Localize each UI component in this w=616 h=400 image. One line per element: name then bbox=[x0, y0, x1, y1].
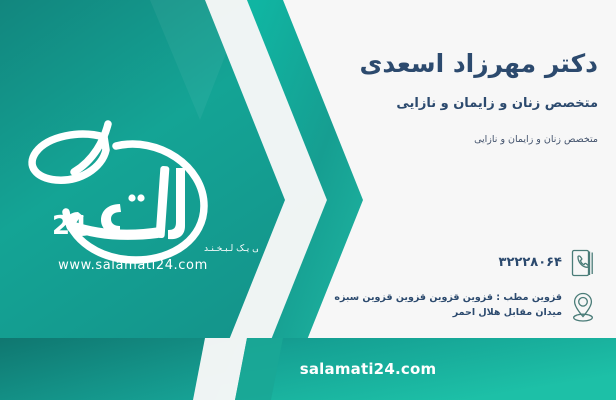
address-text: قزوین مطب : قزوین قزوین قزوین قزوین سبزه… bbox=[308, 290, 562, 320]
apple-leaf-icon: 24 بـراحتی یـک لـبـخـنـد www.salamati24.… bbox=[8, 108, 258, 273]
map-pin-icon bbox=[568, 290, 598, 324]
phone-number: ۳۲۲۲۸۰۶۴ bbox=[308, 248, 562, 273]
salamati24-logo: 24 بـراحتی یـک لـبـخـنـد www.salamati24.… bbox=[8, 108, 258, 273]
page-title: دکتر مهرزاد اسعدی bbox=[308, 48, 598, 79]
footer-bar: salamati24.com bbox=[0, 338, 616, 400]
phone-row[interactable]: ۳۲۲۲۸۰۶۴ bbox=[308, 248, 598, 282]
address-row[interactable]: قزوین مطب : قزوین قزوین قزوین قزوین سبزه… bbox=[308, 290, 598, 324]
svg-text:24: 24 bbox=[52, 211, 86, 241]
footer-website[interactable]: salamati24.com bbox=[0, 338, 616, 400]
specialty-primary: متخصص زنان و زایمان و نازایی bbox=[308, 95, 598, 113]
card-details: دکتر مهرزاد اسعدی متخصص زنان و زایمان و … bbox=[300, 0, 616, 338]
logo-website: www.salamati24.com bbox=[58, 258, 208, 273]
phonebook-icon bbox=[568, 248, 598, 282]
logo-slogan: بـراحتی یـک لـبـخـنـد bbox=[204, 244, 258, 254]
business-card: 24 بـراحتی یـک لـبـخـنـد www.salamati24.… bbox=[0, 0, 616, 400]
specialty-secondary: متخصص زنان و زایمان و نازایی bbox=[308, 133, 598, 146]
logo-badge-24: 24 bbox=[52, 211, 86, 241]
